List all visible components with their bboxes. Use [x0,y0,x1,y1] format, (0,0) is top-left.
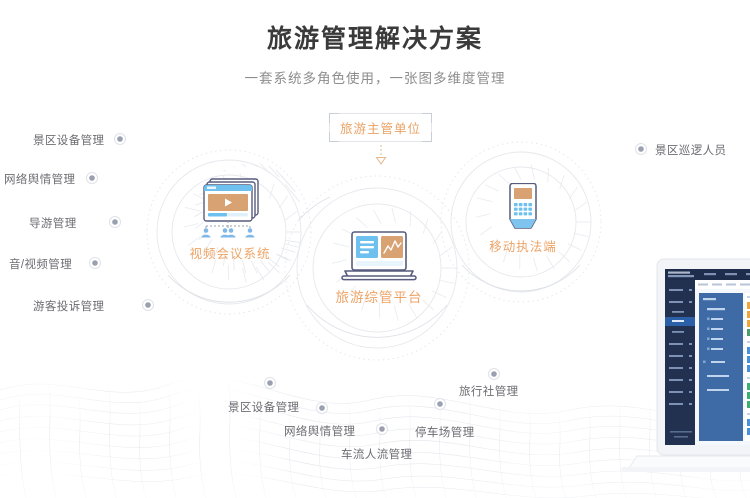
node-label-right-0[interactable]: 景区巡逻人员 [655,142,726,158]
handheld-device-icon [504,183,542,240]
page-header: 旅游管理解决方案 一套系统多角色使用，一张图多维度管理 [0,22,750,90]
authority-label: 旅游主管单位 [330,114,431,141]
node-label-left-3[interactable]: 音/视频管理 [9,256,72,272]
box-edge-right [431,123,432,132]
node-label-left-4[interactable]: 游客投诉管理 [33,298,104,314]
video-window-icon [196,176,264,243]
authority-box[interactable]: 旅游主管单位 [330,114,431,141]
box-edge-bottom [339,141,422,142]
node-label-bottom-4[interactable]: 旅行社管理 [459,383,519,399]
node-label-bottom-1[interactable]: 网络舆情管理 [284,423,355,439]
node-label-bottom-3[interactable]: 停车场管理 [415,424,475,440]
laptop-dashboard-icon [340,231,418,290]
laptop-mockup [621,253,750,498]
hub-caption-mobile-enforcement: 移动执法端 [477,236,569,255]
page-title: 旅游管理解决方案 [0,22,750,56]
hub-caption-tourism-platform: 旅游综管平台 [317,286,441,306]
page-subtitle: 一套系统多角色使用，一张图多维度管理 [0,68,750,90]
hub-caption-video-conference: 视频会议系统 [170,243,290,262]
node-label-left-2[interactable]: 导游管理 [29,215,77,231]
node-label-left-1[interactable]: 网络舆情管理 [4,171,75,187]
node-label-bottom-2[interactable]: 车流人流管理 [341,446,412,462]
solution-diagram-page: 旅游管理解决方案 一套系统多角色使用，一张图多维度管理 [0,0,750,498]
authority-connector [377,145,386,164]
node-label-left-0[interactable]: 景区设备管理 [33,132,104,148]
bottom-connectors [270,323,494,425]
node-label-bottom-0[interactable]: 景区设备管理 [228,399,299,415]
